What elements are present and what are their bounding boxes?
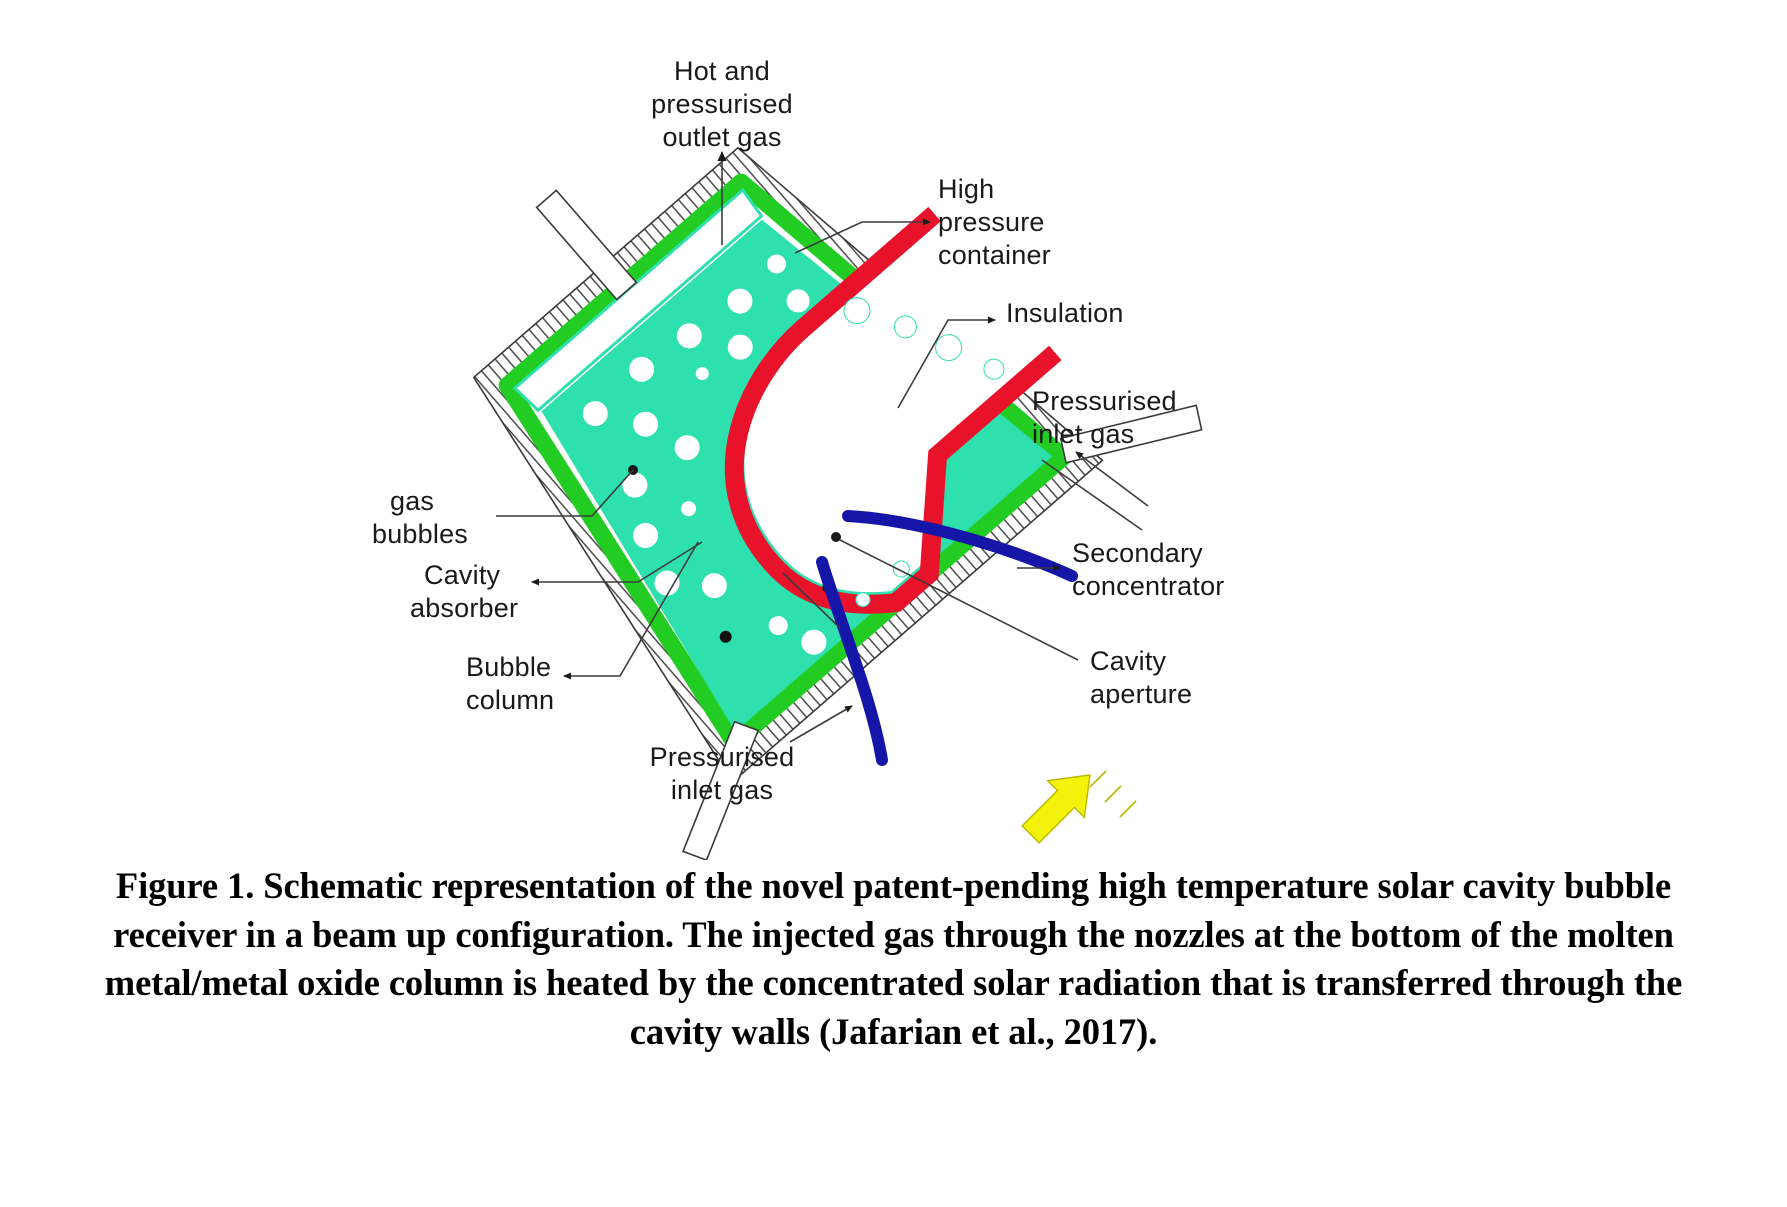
high-pressure-container-label-line2: pressure [938, 207, 1045, 237]
figure-page: Hot and pressurised outlet gas High pres… [0, 0, 1787, 1207]
bubble-column-label-line1: Bubble [466, 652, 551, 682]
outlet-gas-label-line3: outlet gas [662, 122, 781, 152]
insulation-label: Insulation [1006, 298, 1124, 328]
inlet-gas-bottom-label-line2: inlet gas [671, 775, 773, 805]
cavity-aperture-label-line2: aperture [1090, 679, 1192, 709]
cavity-aperture-anchor-dot [831, 532, 841, 542]
cavity-aperture-label-line1: Cavity [1090, 646, 1167, 676]
gas-bubbles-label-line2: bubbles [372, 519, 468, 549]
figure-graphic: Hot and pressurised outlet gas High pres… [0, 0, 1787, 860]
gas-bubbles-label-line1: gas [390, 486, 434, 516]
secondary-concentrator-label-line1: Secondary [1072, 538, 1203, 568]
secondary-concentrator-label-line2: concentrator [1072, 571, 1224, 601]
outlet-gas-label-line2: pressurised [651, 89, 793, 119]
inlet-gas-right-label-line2: inlet gas [1032, 419, 1134, 449]
cavity-absorber-label-line1: Cavity [424, 560, 501, 590]
high-pressure-container-label-line3: container [938, 240, 1051, 270]
inlet-gas-right-label-line1: Pressurised [1032, 386, 1177, 416]
schematic-svg: Hot and pressurised outlet gas High pres… [0, 0, 1787, 860]
figure-caption-text: Figure 1. Schematic representation of th… [105, 865, 1682, 1052]
inlet-gas-bottom-label-line1: Pressurised [650, 742, 795, 772]
bubble-column-label-line2: column [466, 685, 554, 715]
figure-caption: Figure 1. Schematic representation of th… [0, 862, 1787, 1056]
high-pressure-container-label-line1: High [938, 174, 994, 204]
outlet-gas-label-line1: Hot and [674, 56, 770, 86]
cavity-absorber-label-line2: absorber [410, 593, 518, 623]
